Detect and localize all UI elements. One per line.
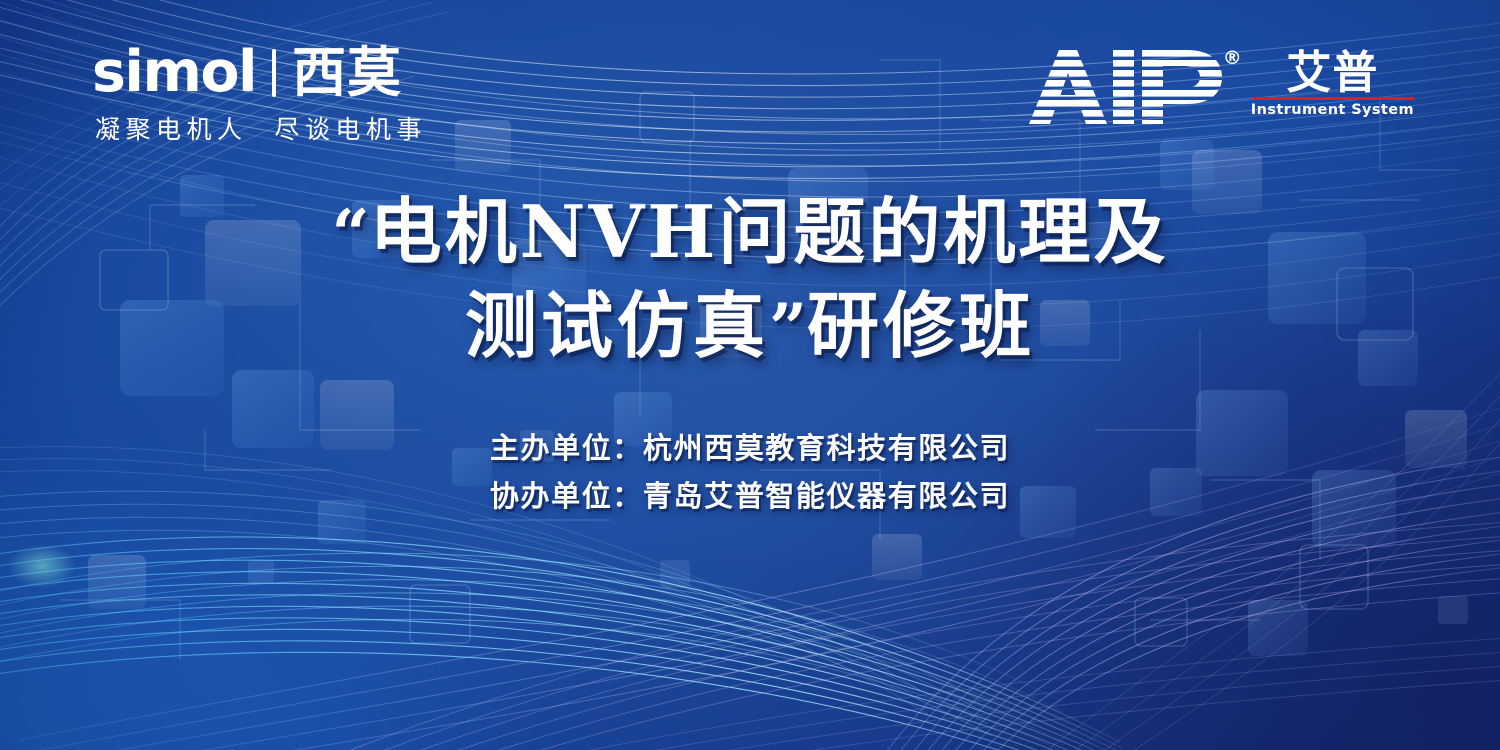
- aip-logo: ® 艾普 Instrument System: [1029, 50, 1414, 128]
- aip-cn-block: 艾普 Instrument System: [1251, 50, 1414, 118]
- organizer-row: 协办单位：青岛艾普智能仪器有限公司: [0, 472, 1500, 520]
- organizer-name: 青岛艾普智能仪器有限公司: [643, 479, 1010, 513]
- quote-open-icon: “: [332, 195, 370, 273]
- aip-subtitle: Instrument System: [1251, 102, 1414, 118]
- simol-tagline: 凝聚电机人 尽谈电机事: [92, 110, 442, 146]
- title-line-2-text: 测试仿真: [465, 283, 769, 368]
- organizer-name: 杭州西莫教育科技有限公司: [643, 431, 1010, 465]
- banner-content: simol 西莫 凝聚电机人 尽谈电机事: [0, 0, 1500, 750]
- title-line-2: 测试仿真”研修班: [0, 280, 1500, 374]
- title-line-2-tail: 研修班: [807, 283, 1035, 368]
- simol-divider-icon: [272, 49, 276, 97]
- aip-striped-letters-icon: [1029, 50, 1225, 124]
- organizer-label: 主办单位：: [490, 431, 643, 465]
- aip-wordmark-cn: 艾普: [1286, 50, 1378, 96]
- organizer-list: 主办单位：杭州西莫教育科技有限公司 协办单位：青岛艾普智能仪器有限公司: [0, 424, 1500, 520]
- simol-logo-row: simol 西莫: [92, 41, 442, 101]
- aip-red-rule: [1251, 97, 1414, 100]
- quote-close-icon: ”: [769, 289, 807, 367]
- aip-wordmark: ®: [1029, 50, 1225, 128]
- event-banner: simol 西莫 凝聚电机人 尽谈电机事: [0, 0, 1500, 750]
- title-line-1-text: 电机NVH问题的机理及: [370, 189, 1169, 274]
- simol-wordmark: simol: [92, 43, 256, 101]
- organizer-label: 协办单位：: [490, 479, 643, 513]
- title-line-1: “电机NVH问题的机理及: [0, 186, 1500, 280]
- organizer-row: 主办单位：杭州西莫教育科技有限公司: [0, 424, 1500, 472]
- registered-trademark-icon: ®: [1223, 47, 1242, 69]
- simol-logo: simol 西莫 凝聚电机人 尽谈电机事: [92, 41, 442, 146]
- simol-wordmark-cn: 西莫: [292, 45, 402, 101]
- page-title: “电机NVH问题的机理及 测试仿真”研修班: [0, 186, 1500, 374]
